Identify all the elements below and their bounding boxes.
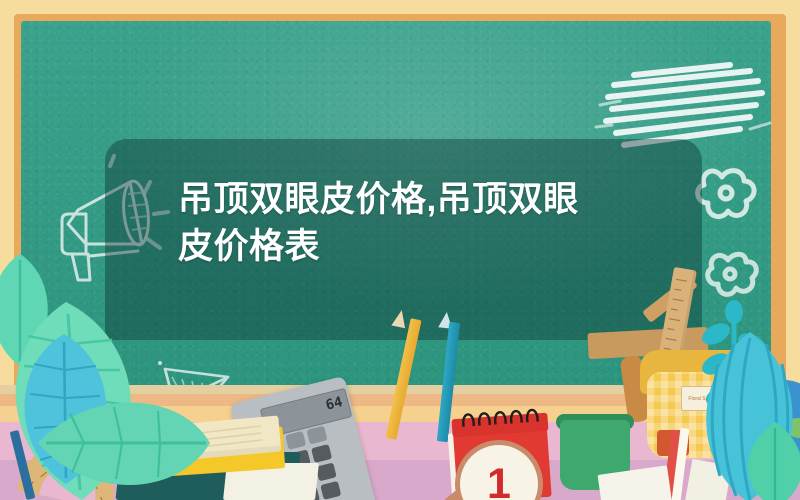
page-title: 吊顶双眼皮价格,吊顶双眼 皮价格表 bbox=[178, 176, 698, 270]
title-line-1: 吊顶双眼皮价格,吊顶双眼 bbox=[178, 176, 698, 223]
magnifier-number: 1 bbox=[460, 445, 538, 500]
calculator-key bbox=[320, 481, 341, 500]
calculator-key bbox=[306, 426, 327, 445]
calculator-key bbox=[311, 444, 332, 463]
calculator-key bbox=[285, 431, 306, 450]
banner-image: 吊顶双眼皮价格,吊顶双眼 皮价格表 Floral School bbox=[0, 0, 800, 500]
title-line-2: 皮价格表 bbox=[178, 223, 698, 270]
leaf-decoration-mid bbox=[30, 385, 215, 500]
leaf-decoration-front bbox=[735, 420, 800, 500]
magnifier-lens: 1 bbox=[455, 440, 543, 500]
calculator-key bbox=[316, 462, 337, 481]
calculator-display-value: 64 bbox=[324, 394, 344, 414]
